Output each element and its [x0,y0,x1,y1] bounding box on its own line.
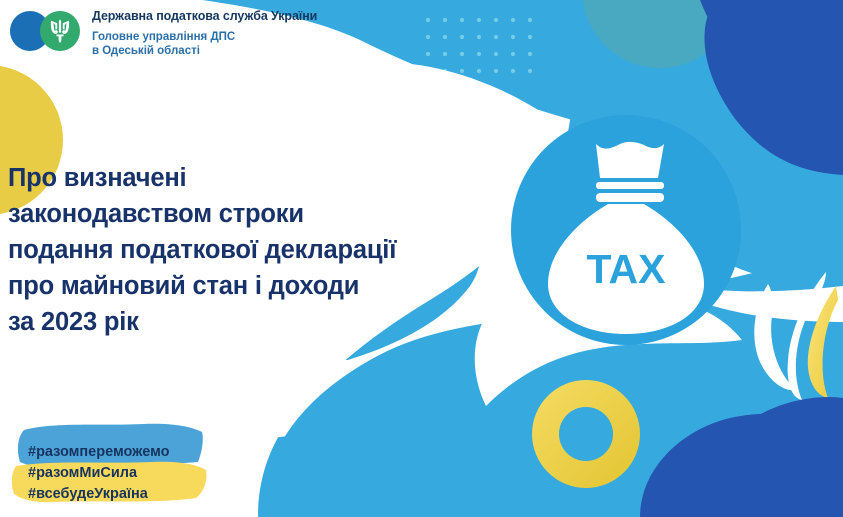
bag-tie-upper [596,182,664,189]
title-line-4: про майновий стан і доходи [8,268,478,304]
title-line-3: подання податкової декларації [8,232,478,268]
organization-logo-block: Державна податкова служба України Головн… [10,6,317,58]
title-line-2: законодавством строки [8,196,478,232]
hashtag-item-2: #разомМиСила [28,463,170,484]
hashtag-list: #разомпереможемо #разомМиСила #всебудеУк… [28,442,170,505]
department-line-2: в Одеській області [92,45,317,59]
organization-title: Державна податкова служба України [92,9,317,24]
hashtag-item-1: #разомпереможемо [28,442,170,463]
title-line-1: Про визначені [8,160,478,196]
bag-tie-lower [596,193,664,202]
trident-glyph-icon [49,18,71,44]
organization-text: Державна податкова служба України Головн… [92,6,317,58]
money-bag-icon [508,112,744,348]
yellow-ring [532,380,640,488]
hashtag-block: #разомпереможемо #разомМиСила #всебудеУк… [6,418,221,510]
money-bag-graphic: TAX [508,112,744,348]
title-line-5: за 2023 рік [8,304,478,340]
poster-canvas: TAX Державна податкова служба України Го… [0,0,843,517]
department-line-1: Головне управління ДПС [92,31,317,45]
logo-circles [10,6,88,52]
trident-emblem-icon [40,11,80,51]
hashtag-item-3: #всебудеУкраїна [28,484,170,505]
page-title: Про визначені законодавством строки пода… [8,160,478,340]
